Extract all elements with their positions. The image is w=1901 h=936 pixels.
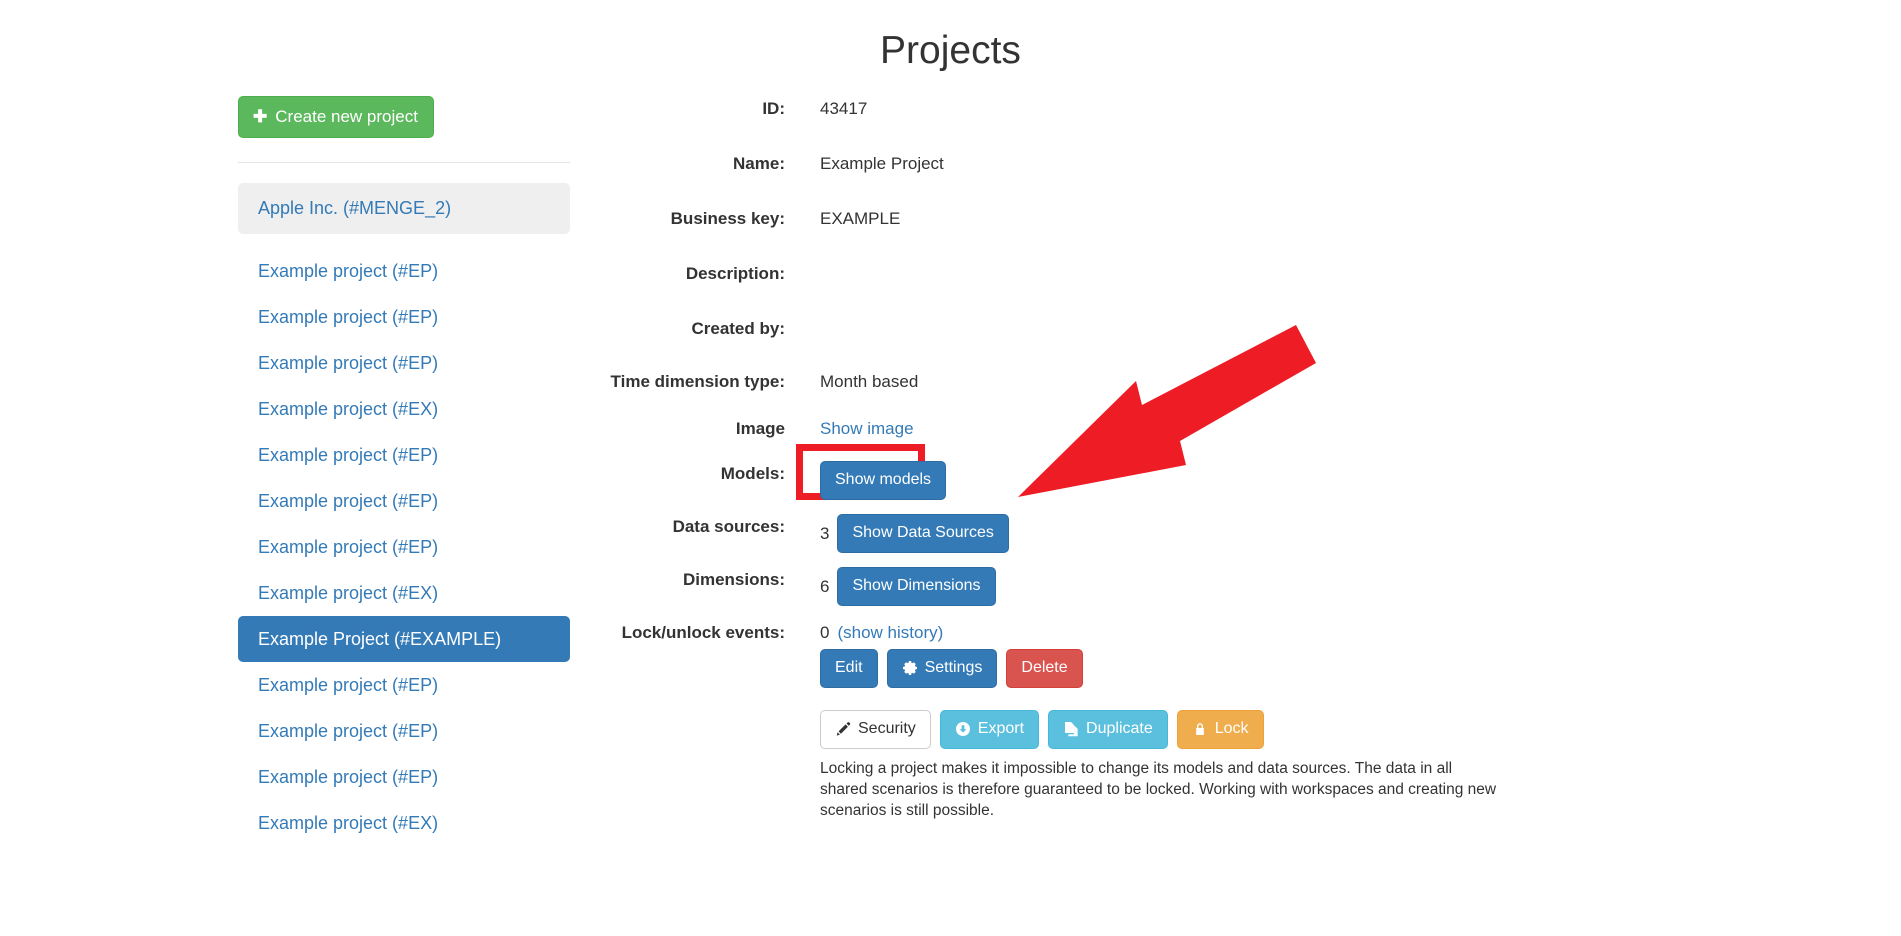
organization-label: Apple Inc. (#MENGE_2) — [258, 198, 451, 218]
sidebar-item-organization[interactable]: Apple Inc. (#MENGE_2) — [238, 183, 570, 234]
primary-action-button-row: EditSettingsDelete — [820, 649, 1500, 688]
detail-label-id: ID: — [600, 96, 785, 121]
detail-row-dimensions: Dimensions: 6 Show Dimensions — [600, 567, 1500, 606]
detail-row-models: Models: Show models — [600, 461, 1500, 500]
action-duplicate-button[interactable]: Duplicate — [1048, 710, 1168, 749]
gear-icon — [902, 660, 918, 676]
dimensions-count: 6 — [820, 574, 829, 599]
sidebar-project-item[interactable]: Example project (#EP) — [238, 248, 570, 294]
sidebar-project-label: Example project (#EP) — [258, 445, 438, 465]
button-label: Export — [978, 721, 1024, 737]
button-label: Edit — [835, 660, 863, 676]
detail-row-data-sources: Data sources: 3 Show Data Sources — [600, 514, 1500, 553]
detail-value-created-by — [785, 316, 1500, 341]
sidebar-project-item[interactable]: Example project (#EX) — [238, 570, 570, 616]
pencil-icon — [835, 721, 851, 737]
sidebar-project-item[interactable]: Example project (#EP) — [238, 294, 570, 340]
sidebar-project-label: Example project (#EP) — [258, 767, 438, 787]
secondary-action-button-row: SecurityExportDuplicateLock — [820, 710, 1500, 749]
button-label: Settings — [925, 660, 983, 676]
page-title: Projects — [0, 28, 1901, 74]
detail-row-image: Image Show image — [600, 416, 1500, 441]
plus-icon: ✚ — [253, 108, 267, 125]
show-dimensions-button[interactable]: Show Dimensions — [837, 567, 995, 606]
sidebar-project-label: Example project (#EP) — [258, 307, 438, 327]
detail-row-created-by: Created by: — [600, 316, 1500, 341]
sidebar-project-label: Example project (#EX) — [258, 583, 438, 603]
sidebar-project-item[interactable]: Example project (#EP) — [238, 754, 570, 800]
detail-row-business-key: Business key: EXAMPLE — [600, 206, 1500, 231]
action-security-button[interactable]: Security — [820, 710, 931, 749]
detail-label-name: Name: — [600, 151, 785, 176]
detail-value-name: Example Project — [785, 151, 1500, 176]
button-label: Duplicate — [1086, 721, 1153, 737]
sidebar-project-label: Example project (#EX) — [258, 813, 438, 833]
sidebar-project-item-selected[interactable]: Example Project (#EXAMPLE) — [238, 616, 570, 662]
sidebar-project-label: Example project (#EP) — [258, 353, 438, 373]
action-lock-button[interactable]: Lock — [1177, 710, 1264, 749]
download-circle-icon — [955, 721, 971, 737]
detail-value-business-key: EXAMPLE — [785, 206, 1500, 231]
data-sources-count: 3 — [820, 521, 829, 546]
project-detail-panel: ID: 43417 Name: Example Project Business… — [600, 96, 1500, 821]
detail-label-created-by: Created by: — [600, 316, 785, 341]
detail-label-data-sources: Data sources: — [600, 514, 785, 539]
lock-note-text: Locking a project makes it impossible to… — [820, 758, 1500, 821]
show-data-sources-button[interactable]: Show Data Sources — [837, 514, 1008, 553]
lock-icon — [1192, 721, 1208, 737]
detail-label-description: Description: — [600, 261, 785, 286]
lock-events-count: 0 — [820, 620, 829, 645]
detail-row-actions: EditSettingsDelete SecurityExportDuplica… — [600, 649, 1500, 821]
detail-row-time-dimension-type: Time dimension type: Month based — [600, 369, 1500, 394]
button-label: Lock — [1215, 721, 1249, 737]
detail-row-lock-events: Lock/unlock events: 0 (show history) — [600, 620, 1500, 645]
sidebar-project-item[interactable]: Example project (#EP) — [238, 432, 570, 478]
create-new-project-label: Create new project — [275, 108, 418, 125]
show-image-link[interactable]: Show image — [820, 416, 914, 441]
detail-label-lock-events: Lock/unlock events: — [600, 620, 785, 645]
sidebar-project-label: Example project (#EX) — [258, 399, 438, 419]
action-delete-button[interactable]: Delete — [1006, 649, 1082, 688]
sidebar-divider — [238, 162, 570, 163]
sidebar-project-item[interactable]: Example project (#EX) — [238, 800, 570, 846]
show-history-link[interactable]: (show history) — [837, 620, 943, 645]
detail-value-description — [785, 261, 1500, 286]
sidebar-project-item[interactable]: Example project (#EP) — [238, 708, 570, 754]
detail-value-time-dimension-type: Month based — [785, 369, 1500, 394]
detail-label-models: Models: — [600, 461, 785, 486]
create-new-project-button[interactable]: ✚ Create new project — [238, 96, 434, 138]
sidebar-project-list: Example project (#EP)Example project (#E… — [238, 248, 578, 846]
sidebar-project-label: Example project (#EP) — [258, 261, 438, 281]
sidebar-project-label: Example project (#EP) — [258, 721, 438, 741]
button-label: Security — [858, 721, 916, 737]
action-settings-button[interactable]: Settings — [887, 649, 998, 688]
action-edit-button[interactable]: Edit — [820, 649, 878, 688]
sidebar-project-item[interactable]: Example project (#EX) — [238, 386, 570, 432]
sidebar-project-label: Example project (#EP) — [258, 675, 438, 695]
detail-label-dimensions: Dimensions: — [600, 567, 785, 592]
detail-actions-spacer — [600, 649, 785, 674]
sidebar-project-label: Example project (#EP) — [258, 537, 438, 557]
sidebar-project-item[interactable]: Example project (#EP) — [238, 524, 570, 570]
sidebar-project-item[interactable]: Example project (#EP) — [238, 662, 570, 708]
button-label: Delete — [1021, 660, 1067, 676]
detail-label-image: Image — [600, 416, 785, 441]
detail-label-time-dimension-type: Time dimension type: — [600, 369, 785, 394]
sidebar-project-label: Example project (#EP) — [258, 491, 438, 511]
sidebar-project-item[interactable]: Example project (#EP) — [238, 340, 570, 386]
action-export-button[interactable]: Export — [940, 710, 1039, 749]
detail-row-description: Description: — [600, 261, 1500, 286]
detail-row-name: Name: Example Project — [600, 151, 1500, 176]
sidebar-project-label: Example Project (#EXAMPLE) — [258, 629, 501, 649]
copy-icon — [1063, 721, 1079, 737]
sidebar-project-item[interactable]: Example project (#EP) — [238, 478, 570, 524]
detail-value-id: 43417 — [785, 96, 1500, 121]
detail-row-id: ID: 43417 — [600, 96, 1500, 121]
project-sidebar: ✚ Create new project Apple Inc. (#MENGE_… — [238, 96, 578, 863]
show-models-button[interactable]: Show models — [820, 461, 946, 500]
detail-label-business-key: Business key: — [600, 206, 785, 231]
